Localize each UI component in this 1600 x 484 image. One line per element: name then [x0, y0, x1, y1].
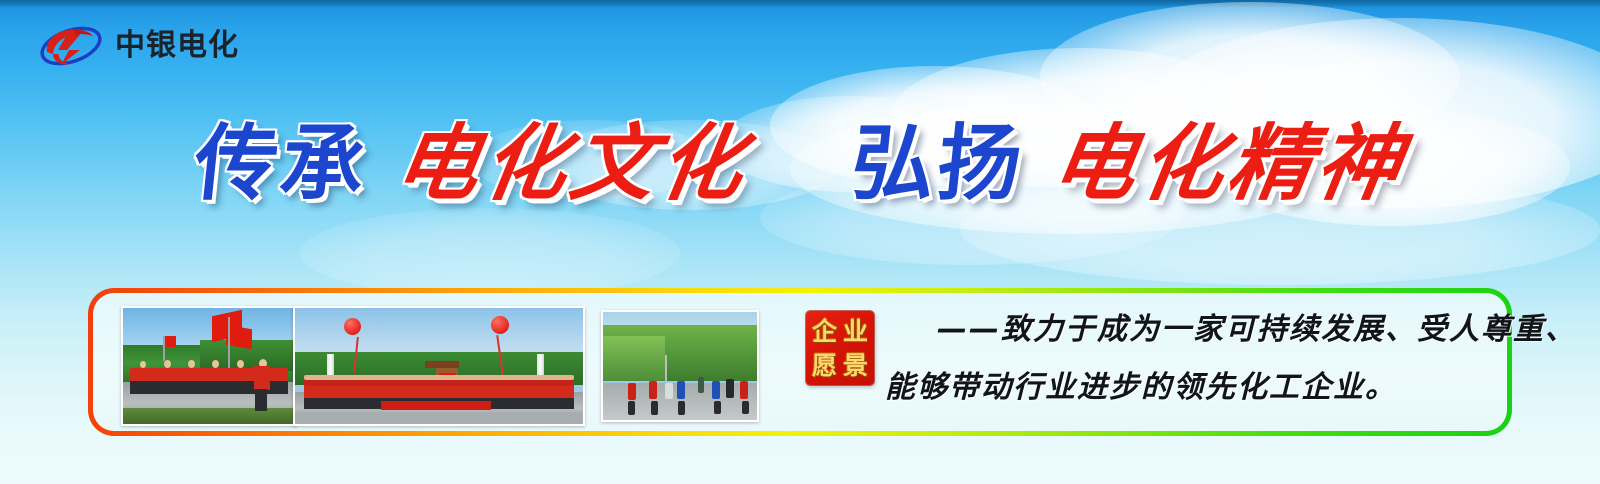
cloud-shape	[300, 208, 680, 298]
vision-line-2: 能够带动行业进步的领先化工企业。	[885, 359, 1493, 417]
seal-char-3: 愿	[812, 353, 837, 378]
corporate-culture-banner: 中银电化 传承 电化文化 弘扬 电化精神	[0, 0, 1600, 484]
page-title: 传承 电化文化 弘扬 电化精神	[0, 122, 1600, 205]
basketball-game-photo	[601, 310, 759, 422]
vision-seal-stamp: 企 业 愿 景	[806, 311, 874, 385]
headline-part-3: 弘扬	[848, 122, 1029, 205]
headline-part-1: 传承	[191, 122, 372, 205]
seal-char-1: 企	[812, 319, 837, 344]
brand-logo: 中银电化	[38, 21, 239, 71]
content-frame-inner: 企 业 愿 景 ——致力于成为一家可持续发展、受人尊重、 能够带动行业进步的领先…	[93, 293, 1507, 431]
seal-char-4: 景	[843, 353, 868, 378]
seal-char-2: 业	[843, 319, 868, 344]
zhongyin-dianhua-logo-icon	[38, 21, 104, 71]
top-dark-strip	[0, 0, 1600, 7]
content-frame: 企 业 愿 景 ——致力于成为一家可持续发展、受人尊重、 能够带动行业进步的领先…	[88, 288, 1512, 436]
vision-line-1: ——致力于成为一家可持续发展、受人尊重、	[885, 301, 1493, 359]
brand-name: 中银电化	[115, 31, 239, 61]
headline-part-4: 电化精神	[1046, 122, 1411, 205]
headline-part-2: 电化文化	[390, 122, 755, 205]
group-assembly-photo	[293, 306, 585, 426]
vision-statement: ——致力于成为一家可持续发展、受人尊重、 能够带动行业进步的领先化工企业。	[885, 301, 1493, 417]
employee-parade-photo	[121, 306, 297, 426]
